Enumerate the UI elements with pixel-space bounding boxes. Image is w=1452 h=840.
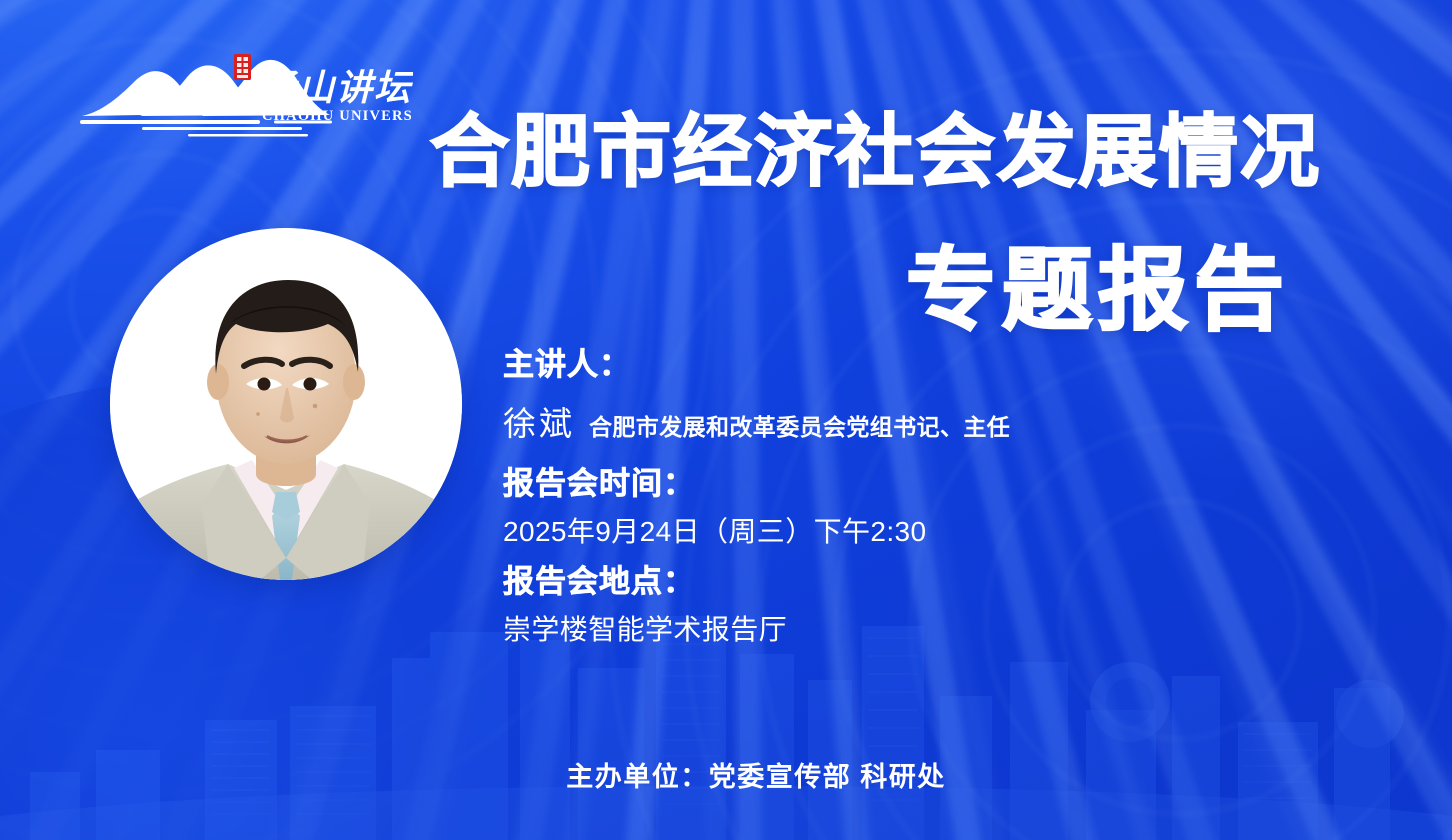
logo-cn-text: 汤山讲坛 [260, 68, 413, 109]
speaker-label: 主讲人： [503, 345, 1263, 385]
venue-value: 崇学楼智能学术报告厅 [503, 612, 1263, 648]
speaker-portrait [110, 228, 462, 580]
page-title-main: 合肥市经济社会发展情况 [430, 112, 1321, 191]
spacer [503, 445, 1263, 464]
brand-logo: 汤山讲坛 CHAOHU UNIVERSITY [78, 52, 413, 142]
time-value: 2025年9月24日（周三）下午2:30 [503, 514, 1263, 550]
speaker-row: 徐斌 合肥市发展和改革委员会党组书记、主任 [503, 397, 1263, 445]
event-info-block: 主讲人： 徐斌 合肥市发展和改革委员会党组书记、主任 报告会时间： 2025年9… [503, 345, 1263, 649]
red-seal-icon [234, 54, 251, 80]
organizer-footer: 主办单位：党委宣传部 科研处 [0, 755, 1452, 794]
time-label: 报告会时间： [503, 464, 1263, 504]
speaker-name: 徐斌 [503, 397, 575, 445]
speaker-portrait-photo [110, 228, 462, 580]
page-title-sub: 专题报告 [906, 246, 1290, 336]
poster-canvas: 汤山讲坛 CHAOHU UNIVERSITY 汤山讲坛 CHAOHU UNIVE… [0, 0, 1452, 840]
venue-label: 报告会地点： [503, 562, 1263, 602]
logo-en-text: CHAOHU UNIVERSITY [262, 108, 413, 124]
speaker-title: 合肥市发展和改革委员会党组书记、主任 [589, 408, 1010, 442]
